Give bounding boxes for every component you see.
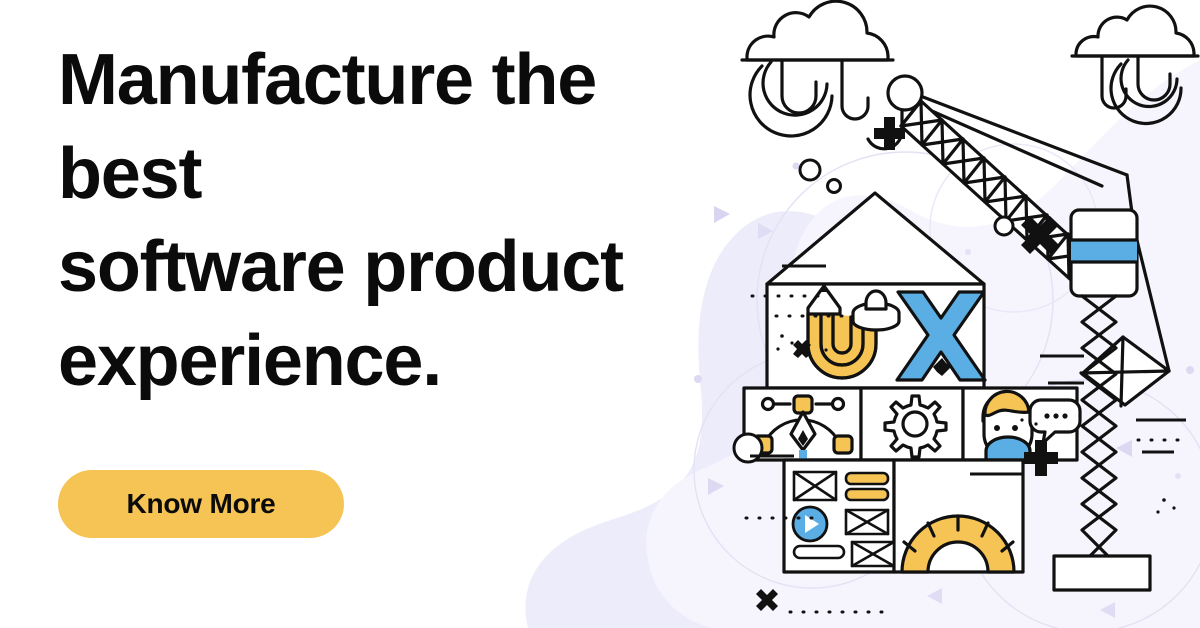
crane-counterweight	[1081, 337, 1169, 406]
headline-block: Manufacture the best software product ex…	[58, 34, 718, 408]
circle-icon	[995, 217, 1013, 235]
cloud-right-icon	[1072, 6, 1198, 123]
ux-construction-illustration	[730, 0, 1200, 628]
speck	[1028, 410, 1031, 413]
speck	[824, 348, 827, 351]
cta-container: Know More	[58, 470, 344, 538]
hero-banner: Manufacture the best software product ex…	[0, 0, 1200, 628]
speck	[1020, 418, 1023, 421]
speck	[1034, 422, 1037, 425]
gear-icon	[885, 396, 946, 457]
icon-panel-row	[744, 388, 1080, 460]
cross-icon	[756, 589, 778, 611]
circle-icon	[800, 160, 820, 180]
know-more-button[interactable]: Know More	[58, 470, 344, 538]
cloud-left-icon	[742, 1, 893, 136]
speck	[1172, 506, 1175, 509]
speck	[776, 347, 779, 350]
speck	[790, 341, 793, 344]
circle-icon	[734, 434, 762, 462]
triangle-decor	[708, 478, 724, 495]
page-title: Manufacture the best software product ex…	[58, 34, 718, 408]
plus-icon	[874, 117, 905, 150]
speck	[780, 334, 784, 338]
speck	[1156, 510, 1159, 513]
ux-house	[767, 193, 985, 388]
bottom-panel-row	[784, 460, 1023, 572]
circle-icon	[828, 180, 841, 193]
speck	[1162, 498, 1166, 502]
crane-cabin	[1071, 210, 1137, 296]
